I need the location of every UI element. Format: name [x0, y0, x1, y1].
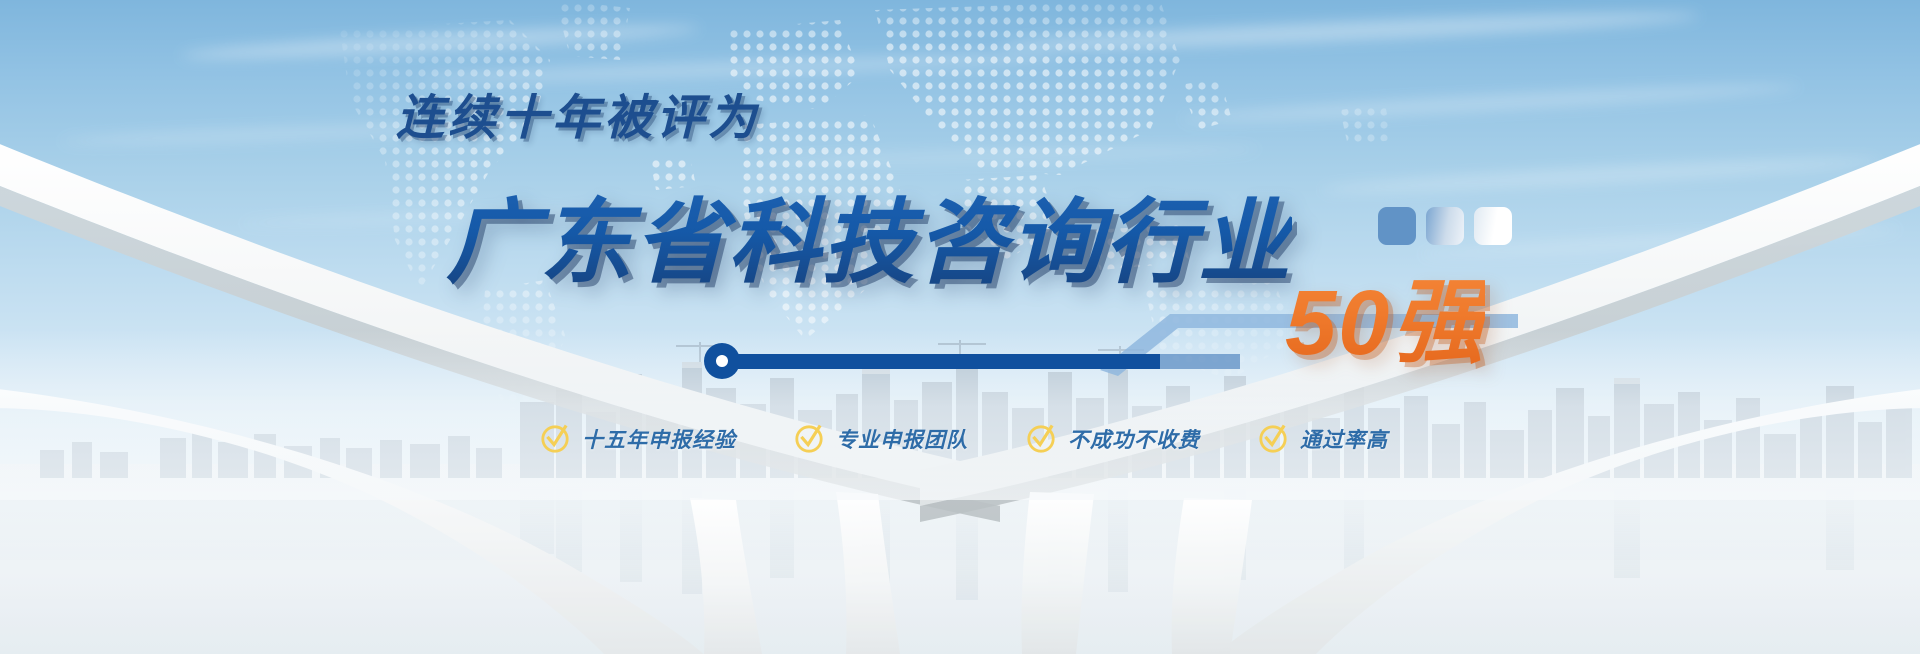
feature-badge-list: 十五年申报经验 专业申报团队 不成功不收费	[540, 424, 1388, 454]
banner-main-title: 广东省科技咨询行业	[446, 168, 1292, 301]
feature-badge-label: 十五年申报经验	[582, 424, 736, 454]
chip-gradient	[1426, 207, 1464, 245]
check-circle-icon	[794, 424, 824, 454]
chip-solid-blue	[1378, 207, 1416, 245]
check-circle-icon	[1026, 424, 1056, 454]
feature-badge-label: 专业申报团队	[836, 424, 968, 454]
feature-badge-label: 通过率高	[1300, 424, 1388, 454]
check-circle-icon	[540, 424, 570, 454]
decorative-chips	[1378, 207, 1512, 245]
headline-block: 连续十年被评为 广东省科技咨询行业 50强	[0, 0, 1920, 654]
rank-badge-text: 50强	[1285, 248, 1485, 381]
feature-badge: 十五年申报经验	[540, 424, 736, 454]
check-circle-icon	[1258, 424, 1288, 454]
feature-badge: 不成功不收费	[1026, 424, 1200, 454]
promo-banner: 连续十年被评为 广东省科技咨询行业 50强	[0, 0, 1920, 654]
feature-badge: 通过率高	[1258, 424, 1388, 454]
banner-subtitle: 连续十年被评为	[396, 78, 760, 148]
feature-badge: 专业申报团队	[794, 424, 968, 454]
chip-white	[1474, 207, 1512, 245]
feature-badge-label: 不成功不收费	[1068, 424, 1200, 454]
